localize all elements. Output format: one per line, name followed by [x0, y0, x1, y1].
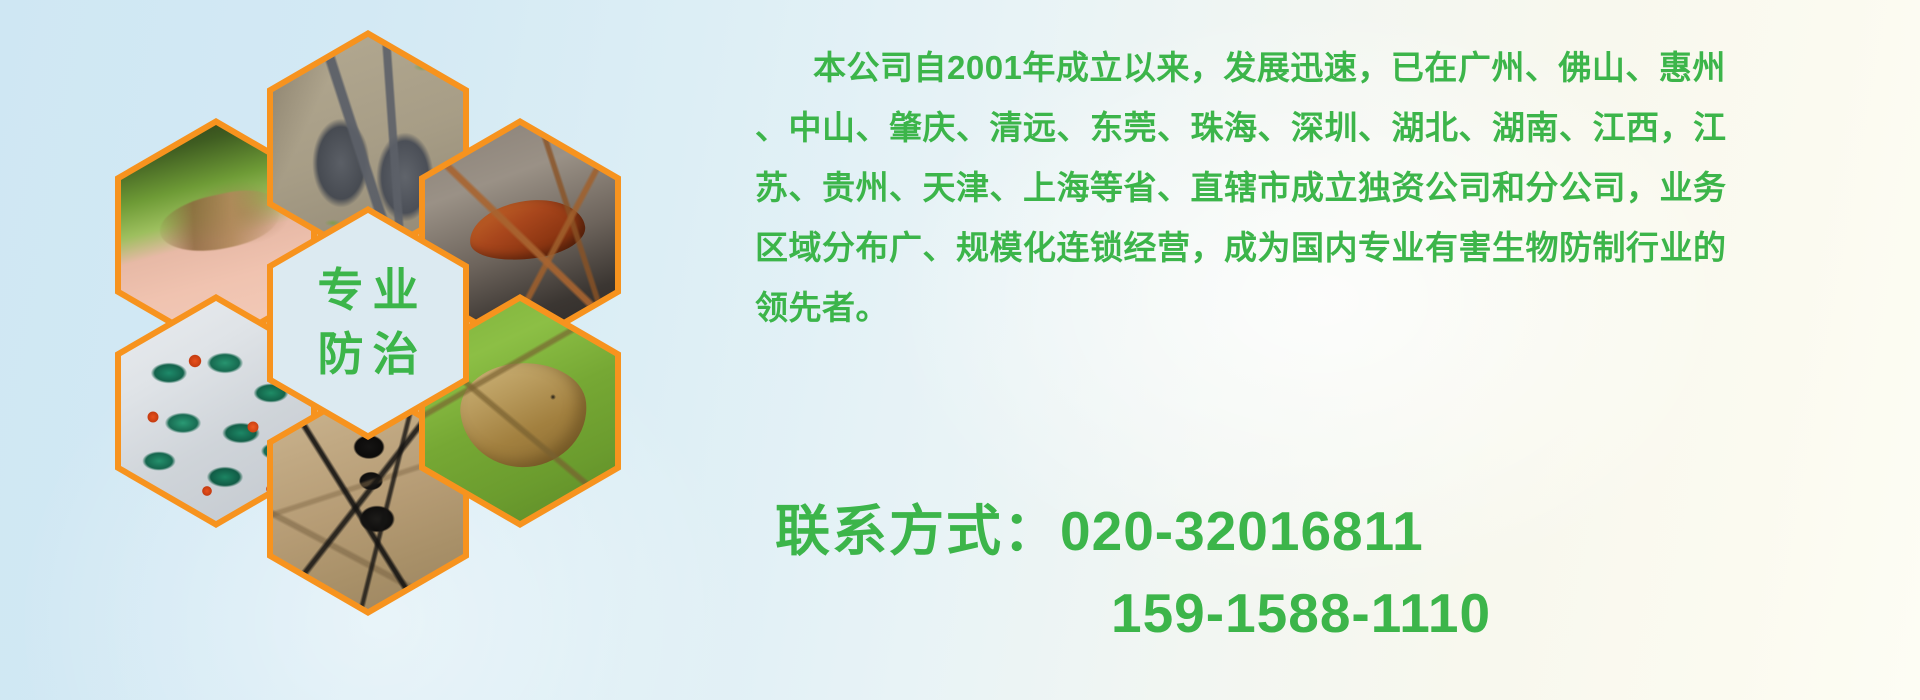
contact-phone-primary[interactable]: 020-32016811	[1060, 500, 1424, 562]
copy-column: 本公司自2001年成立以来，发展迅速，已在广州、佛山、惠州 、中山、肇庆、清远、…	[755, 38, 1890, 338]
hex-inner-slogan: 专业 防治	[273, 213, 463, 433]
intro-line-4: 区域分布广、规模化连锁经营，成为国内专业有害生物防制行业的	[755, 218, 1890, 278]
contact-secondary-line: 159-1588-1110	[775, 572, 1895, 654]
intro-paragraph: 本公司自2001年成立以来，发展迅速，已在广州、佛山、惠州 、中山、肇庆、清远、…	[755, 38, 1890, 338]
contact-phone-secondary[interactable]: 159-1588-1110	[1111, 582, 1491, 644]
slogan-line-1: 专业	[309, 262, 428, 320]
intro-line-3: 苏、贵州、天津、上海等省、直辖市成立独资公司和分公司，业务	[755, 158, 1890, 218]
contact-block: 联系方式：020-32016811 159-1588-1110	[775, 490, 1895, 654]
intro-line-5: 领先者。	[755, 278, 1890, 338]
promotional-banner: 专业 防治 本公司自2001年成立以来，发展迅速，已在广州、佛山、惠州 、中山、…	[0, 0, 1920, 700]
contact-label: 联系方式：	[775, 500, 1060, 562]
intro-line-2: 、中山、肇庆、清远、东莞、珠海、深圳、湖北、湖南、江西，江	[755, 98, 1890, 158]
intro-line-1: 本公司自2001年成立以来，发展迅速，已在广州、佛山、惠州	[755, 38, 1890, 98]
honeycomb-image-cluster: 专业 防治	[95, 8, 695, 568]
slogan-line-2: 防治	[309, 326, 428, 384]
contact-primary-line: 联系方式：020-32016811	[775, 490, 1895, 572]
